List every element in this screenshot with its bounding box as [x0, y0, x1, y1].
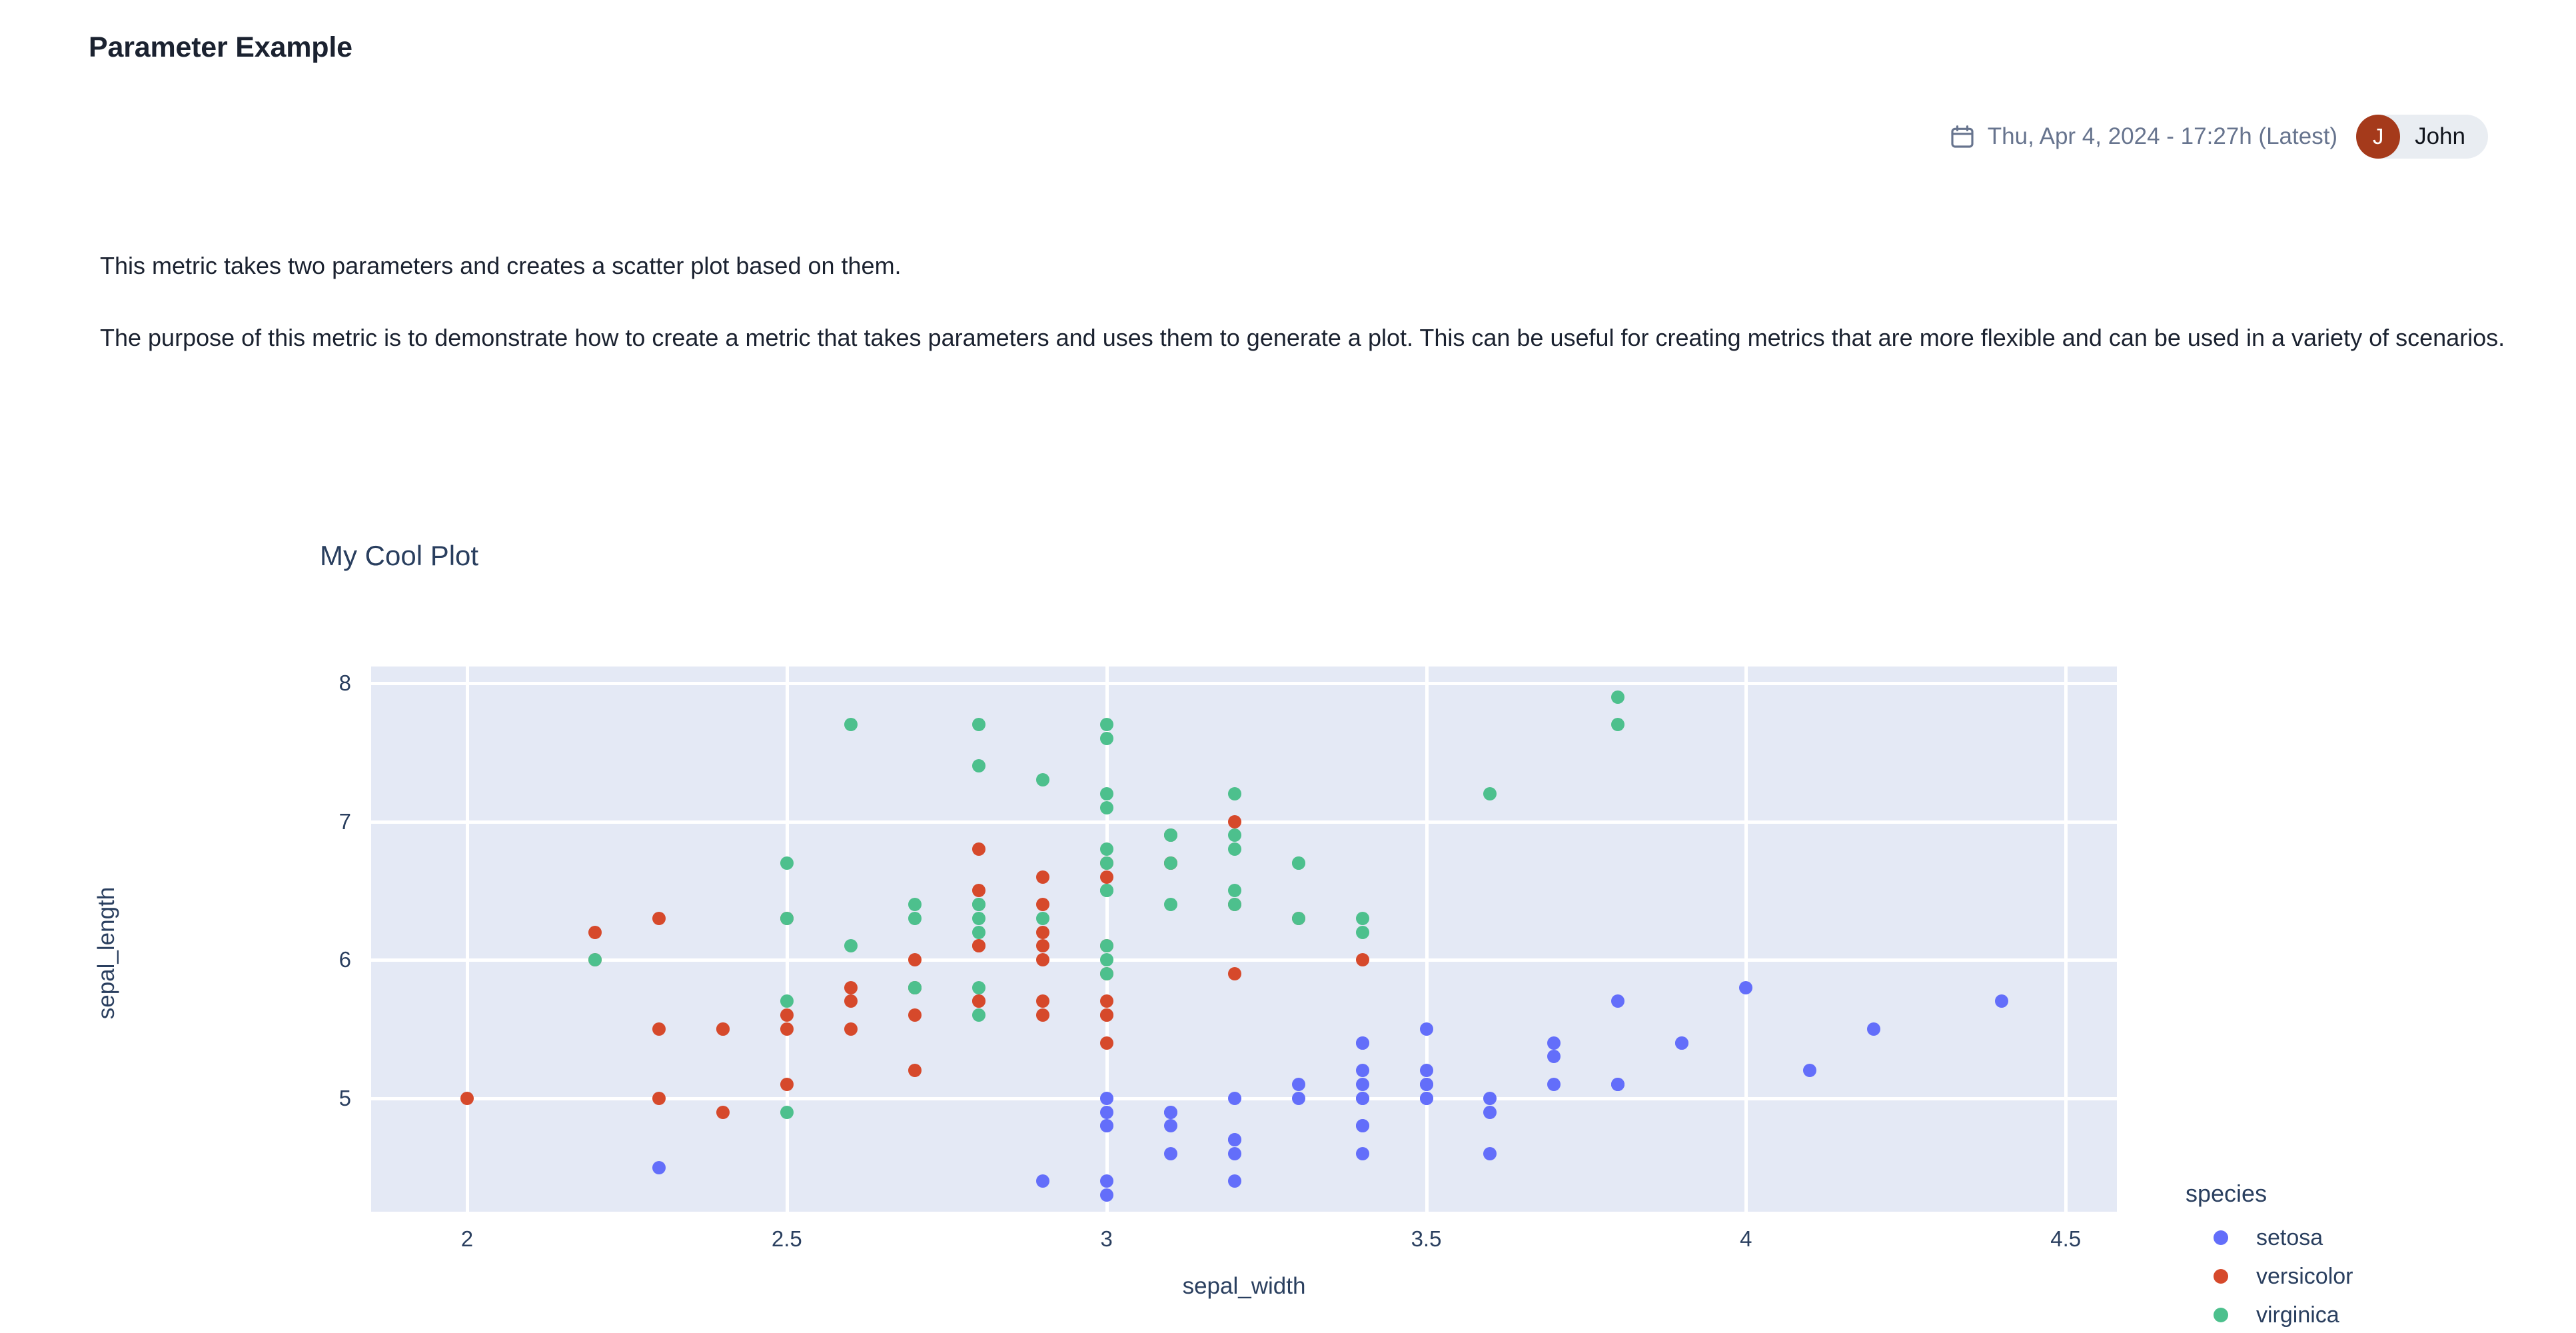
y-tick-label: 8 — [298, 670, 351, 696]
run-date-text: Thu, Apr 4, 2024 - 17:27h (Latest) — [1988, 123, 2337, 150]
data-point-versicolor[interactable] — [780, 1008, 794, 1022]
legend-label: setosa — [2256, 1225, 2323, 1251]
data-point-setosa[interactable] — [1164, 1119, 1177, 1132]
data-point-versicolor[interactable] — [1036, 870, 1049, 884]
data-point-versicolor[interactable] — [1100, 1036, 1113, 1050]
gridline-horizontal — [371, 820, 2117, 824]
data-point-versicolor[interactable] — [1036, 898, 1049, 911]
legend-item-versicolor[interactable]: versicolor — [2186, 1257, 2353, 1296]
data-point-setosa[interactable] — [1100, 1119, 1113, 1132]
data-point-virginica[interactable] — [1164, 828, 1177, 842]
avatar: J — [2356, 115, 2400, 159]
gridline-horizontal — [371, 1097, 2117, 1100]
data-point-virginica[interactable] — [1164, 898, 1177, 911]
data-point-setosa[interactable] — [1228, 1092, 1241, 1105]
metric-page: Parameter Example Thu, Apr 4, 2024 - 17:… — [0, 0, 2576, 1333]
data-point-versicolor[interactable] — [780, 1022, 794, 1036]
data-point-virginica[interactable] — [1611, 690, 1624, 704]
data-point-versicolor[interactable] — [1036, 926, 1049, 939]
gridline-vertical — [786, 666, 789, 1212]
data-point-setosa[interactable] — [1356, 1036, 1369, 1050]
data-point-versicolor[interactable] — [908, 953, 922, 966]
data-point-virginica[interactable] — [972, 718, 985, 731]
data-point-virginica[interactable] — [1611, 718, 1624, 731]
data-point-virginica[interactable] — [1100, 842, 1113, 856]
data-point-setosa[interactable] — [1356, 1119, 1369, 1132]
x-tick-label: 2.5 — [772, 1226, 802, 1252]
data-point-versicolor[interactable] — [1228, 967, 1241, 980]
data-point-setosa[interactable] — [1547, 1078, 1561, 1091]
data-point-virginica[interactable] — [780, 994, 794, 1008]
data-point-virginica[interactable] — [1356, 912, 1369, 925]
y-tick-label: 7 — [298, 809, 351, 834]
metadata-row: Thu, Apr 4, 2024 - 17:27h (Latest) J Joh… — [1949, 115, 2488, 159]
data-point-setosa[interactable] — [1036, 1174, 1049, 1188]
data-point-virginica[interactable] — [1228, 842, 1241, 856]
y-tick-label: 6 — [298, 947, 351, 972]
data-point-versicolor[interactable] — [460, 1092, 474, 1105]
data-point-virginica[interactable] — [780, 856, 794, 870]
data-point-versicolor[interactable] — [652, 1092, 666, 1105]
x-tick-label: 2 — [461, 1226, 473, 1252]
data-point-versicolor[interactable] — [652, 1022, 666, 1036]
y-axis-label: sepal_length — [93, 820, 120, 1086]
data-point-setosa[interactable] — [1675, 1036, 1688, 1050]
data-point-virginica[interactable] — [844, 939, 858, 952]
data-point-setosa[interactable] — [1292, 1078, 1305, 1091]
data-point-versicolor[interactable] — [844, 1022, 858, 1036]
data-point-virginica[interactable] — [1483, 787, 1497, 800]
description-paragraph-1: This metric takes two parameters and cre… — [100, 248, 2512, 285]
data-point-virginica[interactable] — [1228, 787, 1241, 800]
x-tick-label: 4 — [1740, 1226, 1752, 1252]
data-point-setosa[interactable] — [1867, 1022, 1880, 1036]
gridline-vertical — [466, 666, 469, 1212]
legend-marker-icon — [2214, 1230, 2228, 1245]
data-point-setosa[interactable] — [1547, 1050, 1561, 1063]
data-point-setosa[interactable] — [1164, 1147, 1177, 1160]
data-point-setosa[interactable] — [652, 1161, 666, 1174]
data-point-virginica[interactable] — [908, 912, 922, 925]
data-point-virginica[interactable] — [1100, 732, 1113, 745]
data-point-versicolor[interactable] — [1036, 994, 1049, 1008]
data-point-virginica[interactable] — [1100, 939, 1113, 952]
data-point-versicolor[interactable] — [716, 1022, 730, 1036]
data-point-setosa[interactable] — [1100, 1092, 1113, 1105]
data-point-virginica[interactable] — [1100, 801, 1113, 814]
gridline-horizontal — [371, 682, 2117, 685]
data-point-setosa[interactable] — [1356, 1147, 1369, 1160]
chart-title: My Cool Plot — [320, 540, 478, 572]
legend-label: versicolor — [2256, 1264, 2353, 1290]
date-block: Thu, Apr 4, 2024 - 17:27h (Latest) — [1949, 123, 2337, 150]
data-point-virginica[interactable] — [1164, 856, 1177, 870]
data-point-virginica[interactable] — [972, 926, 985, 939]
x-axis-label: sepal_width — [371, 1273, 2117, 1300]
data-point-virginica[interactable] — [1036, 912, 1049, 925]
data-point-virginica[interactable] — [1228, 884, 1241, 897]
data-point-virginica[interactable] — [1100, 884, 1113, 897]
chart-legend: species setosaversicolorvirginica — [2186, 1180, 2353, 1333]
description-paragraph-2: The purpose of this metric is to demonst… — [100, 320, 2512, 357]
data-point-versicolor[interactable] — [652, 912, 666, 925]
data-point-versicolor[interactable] — [1100, 994, 1113, 1008]
data-point-setosa[interactable] — [1611, 994, 1624, 1008]
data-point-setosa[interactable] — [1803, 1064, 1816, 1077]
data-point-virginica[interactable] — [972, 912, 985, 925]
data-point-versicolor[interactable] — [716, 1106, 730, 1119]
data-point-virginica[interactable] — [1356, 926, 1369, 939]
y-tick-label: 5 — [298, 1086, 351, 1111]
data-point-virginica[interactable] — [972, 759, 985, 772]
data-point-versicolor[interactable] — [908, 1064, 922, 1077]
page-title: Parameter Example — [89, 31, 352, 64]
data-point-versicolor[interactable] — [588, 926, 602, 939]
data-point-setosa[interactable] — [1420, 1092, 1433, 1105]
gridline-vertical — [2064, 666, 2068, 1212]
data-point-virginica[interactable] — [588, 953, 602, 966]
data-point-versicolor[interactable] — [1356, 953, 1369, 966]
data-point-virginica[interactable] — [780, 912, 794, 925]
data-point-virginica[interactable] — [1292, 856, 1305, 870]
legend-item-virginica[interactable]: virginica — [2186, 1296, 2353, 1333]
data-point-virginica[interactable] — [1036, 773, 1049, 786]
data-point-setosa[interactable] — [1292, 1092, 1305, 1105]
data-point-virginica[interactable] — [972, 1008, 985, 1022]
data-point-versicolor[interactable] — [1036, 953, 1049, 966]
data-point-virginica[interactable] — [972, 981, 985, 994]
data-point-virginica[interactable] — [908, 981, 922, 994]
gridline-vertical — [1425, 666, 1429, 1212]
data-point-setosa[interactable] — [1100, 1106, 1113, 1119]
data-point-setosa[interactable] — [1547, 1036, 1561, 1050]
data-point-versicolor[interactable] — [780, 1078, 794, 1091]
data-point-versicolor[interactable] — [1036, 939, 1049, 952]
x-tick-label: 4.5 — [2050, 1226, 2081, 1252]
data-point-virginica[interactable] — [1100, 787, 1113, 800]
data-point-virginica[interactable] — [908, 898, 922, 911]
legend-title: species — [2186, 1180, 2353, 1208]
data-point-setosa[interactable] — [1420, 1022, 1433, 1036]
data-point-setosa[interactable] — [1228, 1174, 1241, 1188]
user-badge[interactable]: J John — [2356, 115, 2488, 159]
data-point-setosa[interactable] — [1356, 1064, 1369, 1077]
data-point-virginica[interactable] — [1100, 967, 1113, 980]
data-point-setosa[interactable] — [1483, 1106, 1497, 1119]
data-point-virginica[interactable] — [1100, 718, 1113, 731]
data-point-setosa[interactable] — [1356, 1092, 1369, 1105]
data-point-versicolor[interactable] — [908, 1008, 922, 1022]
data-point-setosa[interactable] — [1420, 1078, 1433, 1091]
data-point-setosa[interactable] — [1739, 981, 1752, 994]
data-point-setosa[interactable] — [1483, 1147, 1497, 1160]
gridline-horizontal — [371, 958, 2117, 962]
data-point-virginica[interactable] — [1292, 912, 1305, 925]
data-point-setosa[interactable] — [1228, 1147, 1241, 1160]
data-point-versicolor[interactable] — [972, 994, 985, 1008]
legend-marker-icon — [2214, 1269, 2228, 1284]
data-point-setosa[interactable] — [1995, 994, 2008, 1008]
x-tick-label: 3.5 — [1411, 1226, 1442, 1252]
data-point-virginica[interactable] — [1228, 898, 1241, 911]
data-point-setosa[interactable] — [1228, 1133, 1241, 1146]
data-point-versicolor[interactable] — [972, 884, 985, 897]
data-point-setosa[interactable] — [1164, 1106, 1177, 1119]
data-point-setosa[interactable] — [1100, 1188, 1113, 1202]
calendar-icon — [1949, 123, 1976, 150]
scatter-chart: My Cool Plot 22.533.544.5 5678 sepal_wid… — [0, 507, 2576, 1333]
data-point-setosa[interactable] — [1356, 1078, 1369, 1091]
data-point-virginica[interactable] — [1228, 828, 1241, 842]
data-point-setosa[interactable] — [1420, 1064, 1433, 1077]
gridline-vertical — [1744, 666, 1748, 1212]
legend-label: virginica — [2256, 1302, 2339, 1328]
legend-marker-icon — [2214, 1308, 2228, 1322]
data-point-setosa[interactable] — [1611, 1078, 1624, 1091]
data-point-virginica[interactable] — [1100, 953, 1113, 966]
data-point-versicolor[interactable] — [1100, 1008, 1113, 1022]
user-name: John — [2415, 123, 2465, 150]
data-point-setosa[interactable] — [1483, 1092, 1497, 1105]
data-point-versicolor[interactable] — [972, 939, 985, 952]
data-point-versicolor[interactable] — [1036, 1008, 1049, 1022]
data-point-versicolor[interactable] — [1228, 815, 1241, 828]
plot-area[interactable] — [371, 666, 2117, 1212]
data-point-virginica[interactable] — [844, 718, 858, 731]
data-point-versicolor[interactable] — [1100, 870, 1113, 884]
x-tick-label: 3 — [1100, 1226, 1112, 1252]
data-point-virginica[interactable] — [972, 898, 985, 911]
data-point-versicolor[interactable] — [844, 981, 858, 994]
data-point-versicolor[interactable] — [844, 994, 858, 1008]
data-point-setosa[interactable] — [1100, 1174, 1113, 1188]
data-point-virginica[interactable] — [1100, 856, 1113, 870]
data-point-virginica[interactable] — [780, 1106, 794, 1119]
legend-item-setosa[interactable]: setosa — [2186, 1218, 2353, 1257]
data-point-versicolor[interactable] — [972, 842, 985, 856]
